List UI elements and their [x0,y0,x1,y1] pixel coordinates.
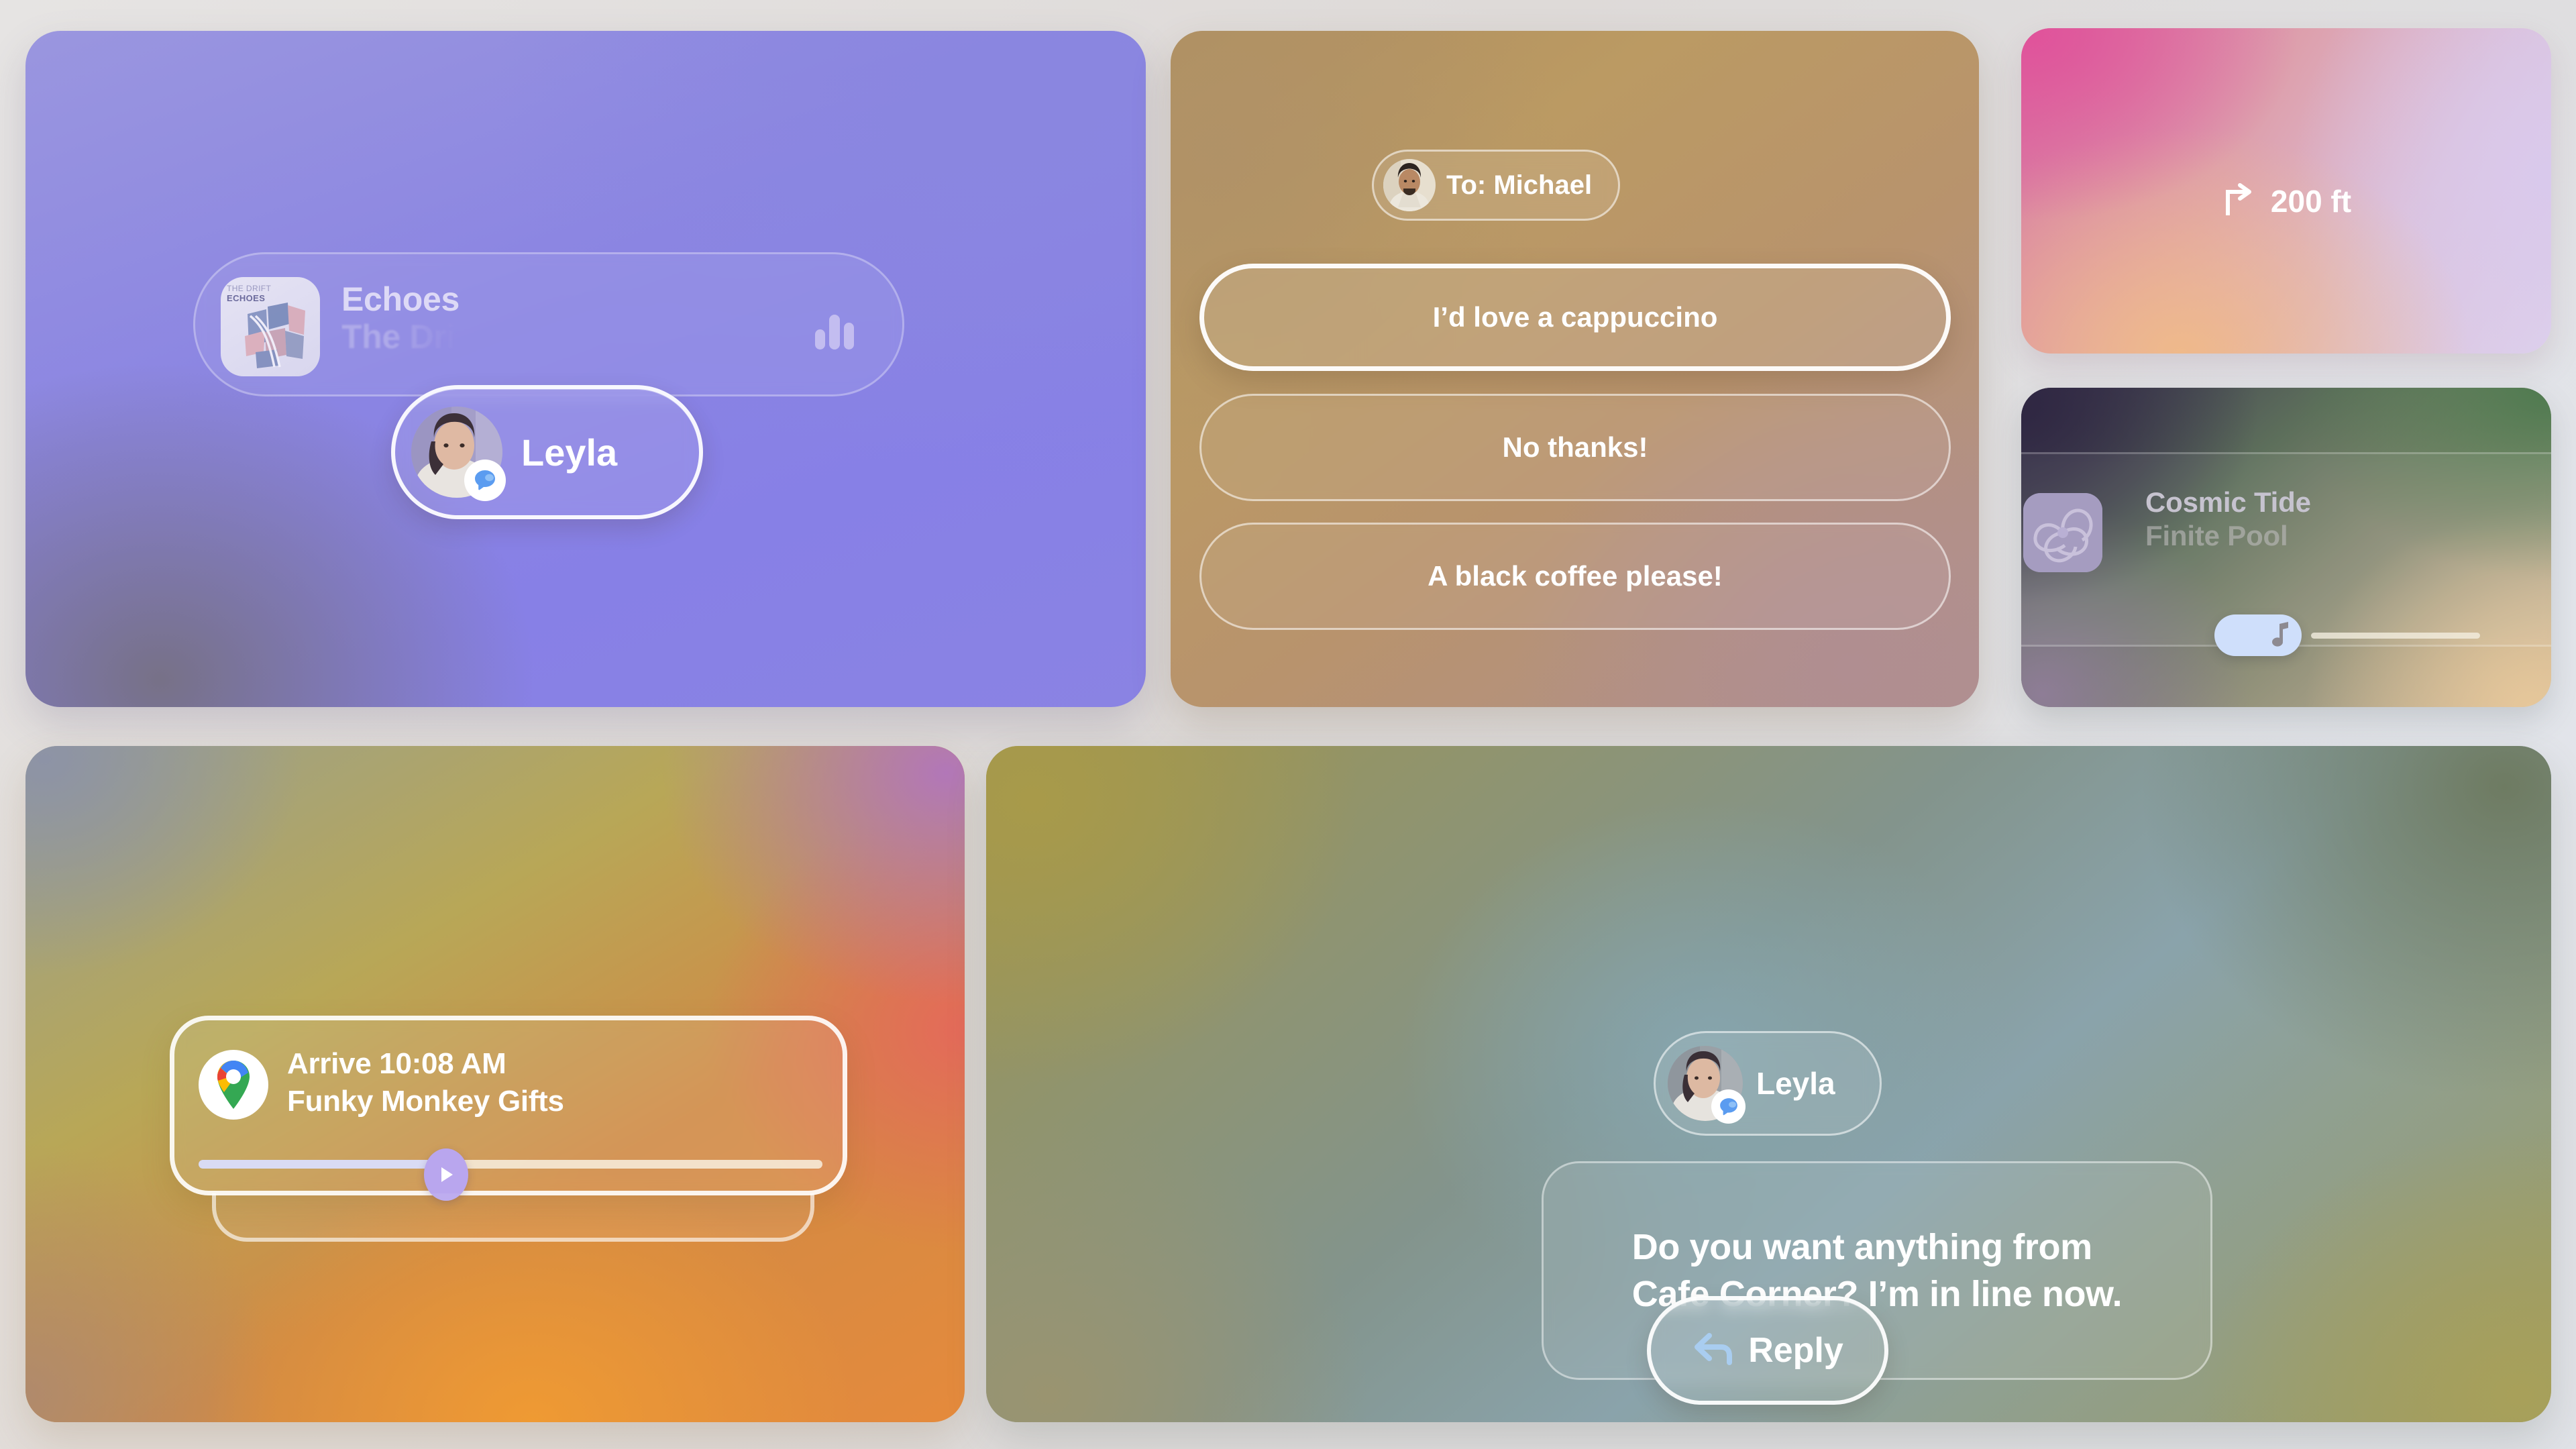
recipient-chip-michael[interactable]: To: Michael [1372,150,1620,221]
smart-reply-card[interactable]: To: Michael I’d love a cappuccino No tha… [1171,31,1979,707]
playback-slider[interactable] [2214,614,2480,656]
track-info: Cosmic Tide Finite Pool [2145,486,2311,552]
navigation-card[interactable]: 200 ft [2021,28,2551,354]
reply-option-label: A black coffee please! [1428,560,1723,592]
widget-canvas: THE DRIFT ECHOES Echoes The Drift [0,0,2576,1449]
track-artist: Finite Pool [2145,520,2311,552]
reply-option-label: I’d love a cappuccino [1433,301,1718,333]
album-art-echoes: THE DRIFT ECHOES [221,277,320,376]
google-maps-pin-icon [199,1050,268,1120]
eta-info: Arrive 10:08 AM Funky Monkey Gifts [287,1047,564,1118]
playback-thumb[interactable] [2214,614,2302,656]
navigation-distance: 200 ft [2271,183,2351,219]
eta-arrival-time: Arrive 10:08 AM [287,1047,564,1081]
message-line-1: Do you want anything from [1632,1227,2092,1267]
reply-button-label: Reply [1748,1330,1843,1371]
turn-right-icon [2221,181,2257,221]
album-art-cosmic-tide [2023,493,2102,572]
eta-destination: Funky Monkey Gifts [287,1085,564,1118]
route-progress-remaining [447,1160,822,1169]
route-progress-slider[interactable] [199,1150,822,1177]
contact-chip-leyla[interactable]: Leyla [391,385,703,519]
track-artist: The Drift [341,317,478,356]
cosmic-tide-music-card[interactable]: Cosmic Tide Finite Pool [2021,388,2551,707]
reply-arrow-icon [1692,1332,1733,1370]
music-now-playing-card[interactable]: THE DRIFT ECHOES Echoes The Drift [25,31,1146,707]
messages-chat-icon [464,460,506,502]
navigation-eta-card[interactable]: Arrive 10:08 AM Funky Monkey Gifts 8:32 [25,746,965,1422]
album-art-line2: ECHOES [227,293,265,303]
music-player-panel[interactable]: THE DRIFT ECHOES Echoes The Drift [193,252,904,396]
equalizer-icon [814,312,855,353]
navigation-instruction: 200 ft [2021,181,2551,221]
sender-chip-leyla[interactable]: Leyla [1654,1031,1882,1136]
album-art-line1: THE DRIFT [227,284,271,293]
reply-option-1[interactable]: No thanks! [1199,394,1951,501]
eta-panel[interactable]: Arrive 10:08 AM Funky Monkey Gifts [170,1016,847,1195]
route-progress-fill [199,1160,447,1169]
reply-option-label: No thanks! [1502,431,1648,464]
navigation-arrow-icon[interactable] [424,1148,468,1201]
avatar [411,407,502,498]
reply-button[interactable]: Reply [1647,1296,1888,1405]
sender-name: Leyla [1756,1065,1835,1102]
avatar-photo [1383,159,1436,211]
reply-option-2[interactable]: A black coffee please! [1199,523,1951,630]
track-info: Echoes The Drift [341,280,478,356]
playback-track[interactable] [2311,633,2480,639]
avatar [1668,1046,1743,1121]
avatar [1383,159,1436,211]
contact-name: Leyla [521,431,617,474]
messages-chat-icon [1711,1089,1746,1124]
music-note-icon [2271,621,2291,650]
track-title: Cosmic Tide [2145,486,2311,519]
track-title: Echoes [341,280,478,319]
incoming-message-card[interactable]: Leyla Do you want anything from Cafe Cor… [986,746,2551,1422]
reply-option-0[interactable]: I’d love a cappuccino [1199,264,1951,371]
recipient-label: To: Michael [1446,170,1592,201]
